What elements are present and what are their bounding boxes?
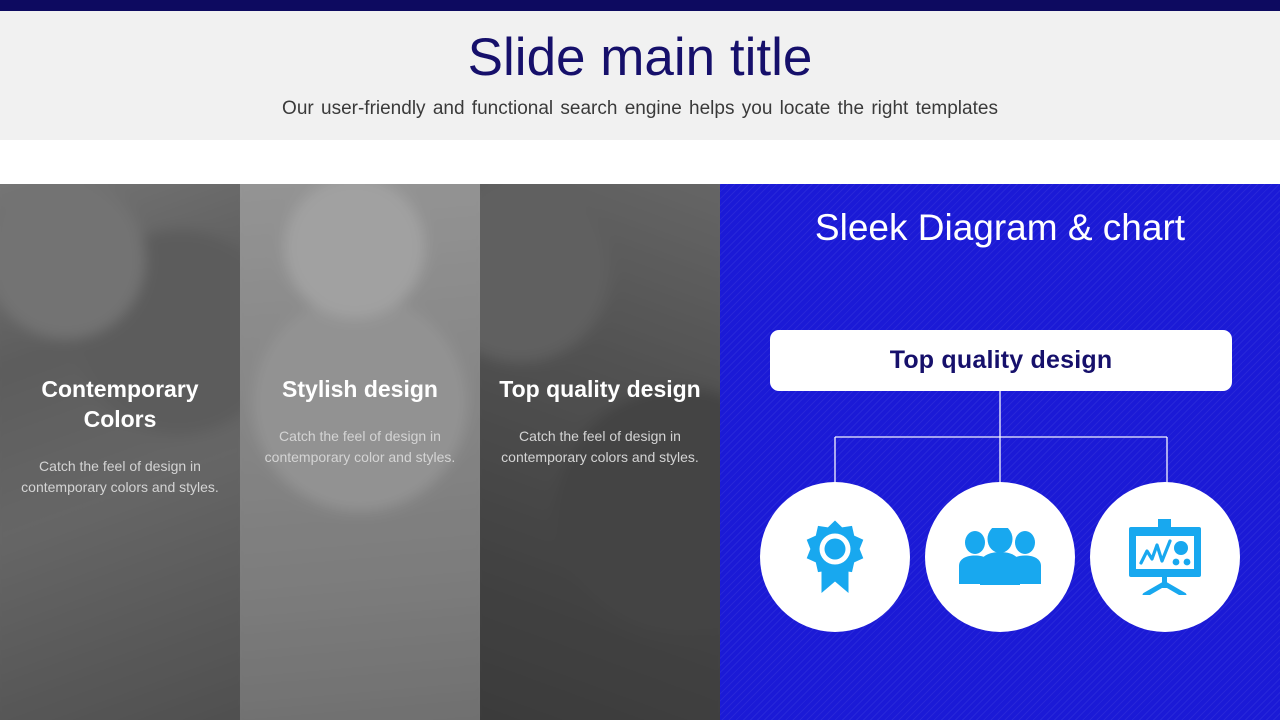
header-spacer — [0, 140, 1280, 184]
feature-card-2-description: Catch the feel of design in contemporary… — [254, 426, 466, 468]
feature-card-1-title: Contemporary Colors — [14, 374, 226, 434]
slide-header: Slide main title Our user-friendly and f… — [0, 11, 1280, 140]
presentation-chart-icon — [1124, 519, 1206, 595]
top-accent-bar — [0, 0, 1280, 11]
feature-card-2[interactable]: Stylish design Catch the feel of design … — [240, 184, 480, 720]
feature-card-1-content: Contemporary Colors Catch the feel of de… — [0, 374, 240, 498]
feature-card-2-content: Stylish design Catch the feel of design … — [240, 374, 480, 468]
feature-card-1[interactable]: Contemporary Colors Catch the feel of de… — [0, 184, 240, 720]
page-title: Slide main title — [468, 27, 813, 89]
page-subtitle: Our user-friendly and functional search … — [282, 97, 998, 121]
feature-card-3-title: Top quality design — [494, 374, 706, 404]
diagram-panel: Sleek Diagram & chart Top quality design — [720, 184, 1280, 720]
feature-card-3-description: Catch the feel of design in contemporary… — [494, 426, 706, 468]
diagram-node-3[interactable] — [1090, 482, 1240, 632]
slide-body: Contemporary Colors Catch the feel of de… — [0, 184, 1280, 720]
feature-card-3-content: Top quality design Catch the feel of des… — [480, 374, 720, 468]
award-ribbon-icon — [798, 519, 872, 595]
people-group-icon — [958, 528, 1042, 586]
diagram-connectors — [720, 184, 1280, 720]
diagram-node-2[interactable] — [925, 482, 1075, 632]
feature-card-3[interactable]: Top quality design Catch the feel of des… — [480, 184, 720, 720]
feature-card-2-title: Stylish design — [254, 374, 466, 404]
slide-canvas: Slide main title Our user-friendly and f… — [0, 0, 1280, 720]
feature-card-1-description: Catch the feel of design in contemporary… — [14, 456, 226, 498]
diagram-node-1[interactable] — [760, 482, 910, 632]
